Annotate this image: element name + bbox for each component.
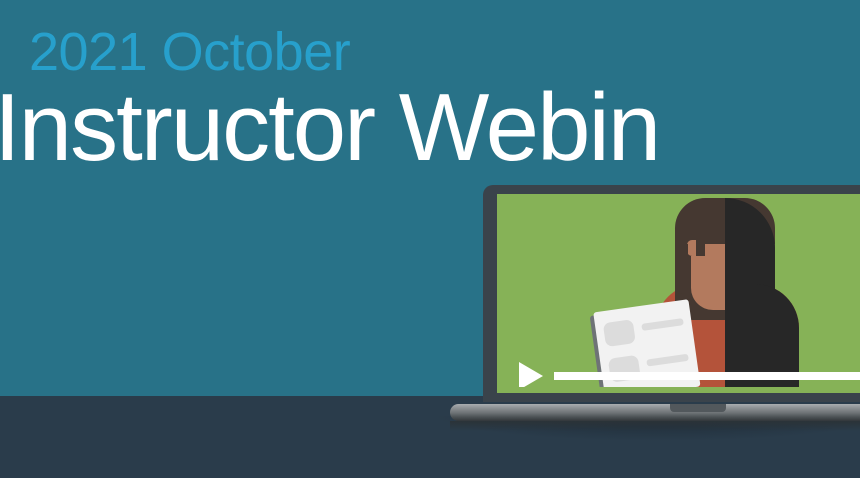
laptop-base [450, 404, 860, 421]
screen-bottom-band [497, 387, 860, 393]
figure-shadow-half [725, 194, 807, 393]
figure-ear [687, 240, 696, 256]
figure-hair-sideburn [675, 244, 688, 294]
document-text-bar [646, 354, 689, 367]
laptop-trackpad-notch [670, 404, 726, 412]
document-thumbnail [603, 319, 636, 347]
laptop-screen [497, 194, 860, 393]
webinar-banner: 2021 October Instructor Webin [0, 0, 860, 478]
play-icon[interactable] [519, 362, 543, 390]
laptop-illustration [450, 183, 860, 433]
banner-eyebrow-date: 2021 October [29, 23, 350, 81]
progress-bar[interactable] [554, 372, 860, 380]
document-text-bar [641, 318, 684, 331]
laptop-base-shadow [450, 421, 860, 431]
banner-headline: Instructor Webin [0, 76, 659, 180]
